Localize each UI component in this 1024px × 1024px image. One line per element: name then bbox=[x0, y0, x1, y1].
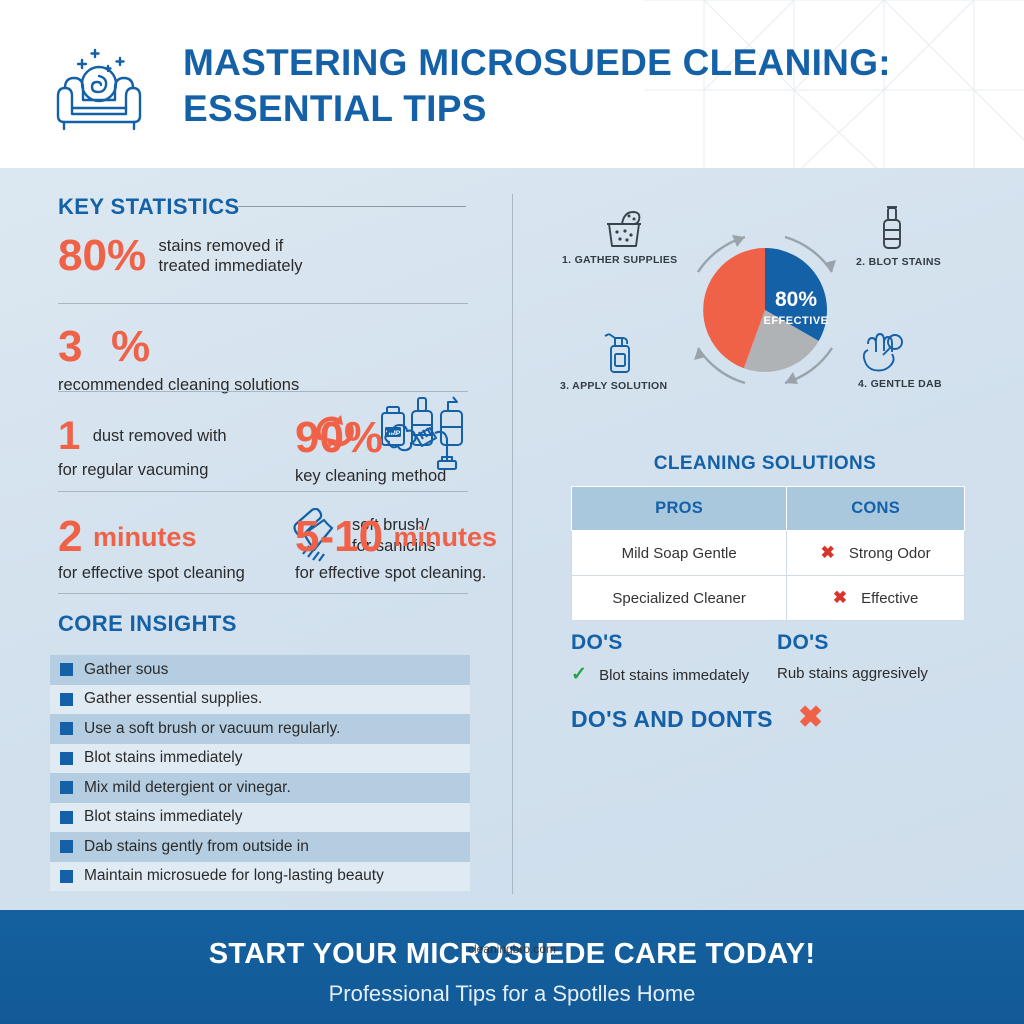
list-item-label: Maintain microsuede for long-lasting bea… bbox=[84, 867, 384, 885]
bullet-square-icon bbox=[60, 811, 73, 824]
cell-con: ✖Effective bbox=[787, 576, 965, 621]
list-item[interactable]: Blot stains immediately bbox=[50, 803, 470, 833]
stat-unit: minutes bbox=[93, 522, 197, 553]
list-item-label: Use a soft brush or vacuum regularly. bbox=[84, 720, 340, 738]
stat-5-10-minutes: 5-10 minutes for effective spot cleaning… bbox=[295, 515, 497, 584]
cleaning-cycle-diagram: 80% EFFECTIVE 1. GATHER SUPPLIES bbox=[540, 200, 990, 420]
dos-heading-left: DO'S bbox=[571, 631, 623, 655]
stat-value: 1 bbox=[58, 416, 80, 456]
stat-unit: % bbox=[107, 234, 146, 278]
bullet-square-icon bbox=[60, 663, 73, 676]
stat-unit: minutes bbox=[394, 522, 498, 553]
list-item-label: Gather essential supplies. bbox=[84, 690, 262, 708]
stat-unit: % bbox=[111, 325, 150, 369]
spray-bottle-icon bbox=[876, 204, 908, 252]
body-panel: KEY STATISTICS 80% stains removed if tre… bbox=[0, 168, 1024, 910]
title-line-2: ESSENTIAL TIPS bbox=[183, 86, 983, 132]
cycle-step-label-3: 3. APPLY SOLUTION bbox=[560, 380, 667, 392]
column-header-cons: CONS bbox=[787, 487, 965, 531]
header: MASTERING MICROSUEDE CLEANING: ESSENTIAL… bbox=[0, 0, 1024, 168]
supplies-basket-icon bbox=[600, 208, 648, 250]
table-row: Mild Soap Gentle ✖Strong Odor bbox=[572, 531, 965, 576]
core-insights-heading: CORE INSIGHTS bbox=[58, 611, 237, 637]
stat-desc-line-1: stains removed if bbox=[159, 237, 284, 255]
stat-1-dust: 1 dust removed with for regular vacuming bbox=[58, 416, 227, 481]
list-item[interactable]: Use a soft brush or vacuum regularly. bbox=[50, 714, 470, 744]
list-item-label: Blot stains immediately bbox=[84, 808, 243, 826]
pie-center-value: 80% bbox=[775, 288, 817, 311]
dos-line-right: Rub stains aggresively bbox=[777, 665, 928, 682]
table-header-row: PROS CONS bbox=[572, 487, 965, 531]
x-icon: ✖ bbox=[821, 543, 835, 562]
bullet-square-icon bbox=[60, 752, 73, 765]
dos-heading-right: DO'S bbox=[777, 631, 829, 655]
table-row: Specialized Cleaner ✖Effective bbox=[572, 576, 965, 621]
x-icon: ✖ bbox=[798, 703, 823, 733]
core-insights-list: Gather sous Gather essential supplies. U… bbox=[50, 655, 470, 891]
cell-con: ✖Strong Odor bbox=[787, 531, 965, 576]
footer-cta: START YOUR MICROSUEDE CARE TODAY! Profes… bbox=[0, 910, 1024, 1024]
watermark: cleaningbro.com bbox=[0, 942, 1024, 956]
bullet-square-icon bbox=[60, 840, 73, 853]
cleaning-solutions-title: CLEANING SOLUTIONS bbox=[540, 453, 990, 475]
cleaning-solutions-table: PROS CONS Mild Soap Gentle ✖Strong Odor … bbox=[571, 486, 965, 621]
list-item-label: Mix mild detergient or vinegar. bbox=[84, 779, 291, 797]
cell-pro: Specialized Cleaner bbox=[572, 576, 787, 621]
title-line-1: MASTERING MICROSUEDE CLEANING: bbox=[183, 42, 891, 83]
page-title: MASTERING MICROSUEDE CLEANING: ESSENTIAL… bbox=[183, 40, 983, 133]
dos-and-donts-heading: DO'S AND DONTS bbox=[571, 706, 773, 733]
pie-center-label: EFFECTIVE bbox=[763, 315, 828, 327]
cycle-step-label-4: 4. GENTLE DAB bbox=[858, 378, 942, 390]
stat-2-minutes: 2 minutes for effective spot cleaning bbox=[58, 515, 245, 584]
column-divider bbox=[512, 194, 513, 894]
cycle-step-label-2: 2. BLOT STAINS bbox=[856, 256, 941, 268]
stat-sub: recommended cleaning solutions bbox=[58, 375, 299, 396]
list-item[interactable]: Blot stains immediately bbox=[50, 744, 470, 774]
list-item[interactable]: Maintain microsuede for long-lasting bea… bbox=[50, 862, 470, 892]
cycle-step-label-1: 1. GATHER SUPPLIES bbox=[562, 254, 677, 266]
stat-description: stains removed if treated immediately bbox=[159, 236, 303, 276]
list-item-label: Blot stains immediately bbox=[84, 749, 243, 767]
bullet-square-icon bbox=[60, 722, 73, 735]
dos-line-left: ✓ Blot stains immedately bbox=[571, 663, 749, 686]
stat-value: 2 bbox=[58, 515, 82, 559]
x-icon: ✖ bbox=[833, 588, 847, 607]
footer-subtitle: Professional Tips for a Spotlles Home bbox=[0, 981, 1024, 1007]
column-header-pros: PROS bbox=[572, 487, 787, 531]
stat-sub: for regular vacuming bbox=[58, 460, 227, 481]
stat-3-percent: 3 % recommended cleaning solutions bbox=[58, 325, 299, 396]
stat-desc-line-2: treated immediately bbox=[159, 257, 303, 275]
cell-pro: Mild Soap Gentle bbox=[572, 531, 787, 576]
stat-sub: for effective spot cleaning. bbox=[295, 563, 497, 584]
sofa-sparkle-icon bbox=[45, 36, 153, 136]
spray-trigger-icon bbox=[602, 328, 638, 376]
check-icon: ✓ bbox=[571, 664, 587, 685]
key-statistics-heading: KEY STATISTICS bbox=[58, 194, 240, 220]
bullet-square-icon bbox=[60, 693, 73, 706]
list-item[interactable]: Gather sous bbox=[50, 655, 470, 685]
stat-80-percent: 80% stains removed if treated immediatel… bbox=[58, 234, 303, 278]
dos-line-left-label: Blot stains immedately bbox=[599, 667, 749, 684]
stat-value: 80 bbox=[58, 234, 107, 278]
stat-sub: for effective spot cleaning bbox=[58, 563, 245, 584]
list-item[interactable]: Mix mild detergient or vinegar. bbox=[50, 773, 470, 803]
stat-description: dust removed with bbox=[93, 426, 227, 446]
hand-dab-icon bbox=[860, 328, 908, 374]
cell-con-label: Strong Odor bbox=[849, 545, 931, 562]
list-item[interactable]: Dab stains gently from outside in bbox=[50, 832, 470, 862]
list-item-label: Dab stains gently from outside in bbox=[84, 838, 309, 856]
bullet-square-icon bbox=[60, 870, 73, 883]
stat-value: 90% bbox=[295, 416, 383, 460]
vacuum-cleaner-icon bbox=[383, 418, 459, 476]
list-item-label: Gather sous bbox=[84, 661, 168, 679]
list-item[interactable]: Gather essential supplies. bbox=[50, 685, 470, 715]
stat-value: 3 bbox=[58, 325, 82, 369]
bullet-square-icon bbox=[60, 781, 73, 794]
cell-con-label: Effective bbox=[861, 590, 918, 607]
infographic-page: MASTERING MICROSUEDE CLEANING: ESSENTIAL… bbox=[0, 0, 1024, 1024]
key-statistics-rule bbox=[238, 206, 466, 207]
stat-value: 5-10 bbox=[295, 515, 383, 559]
